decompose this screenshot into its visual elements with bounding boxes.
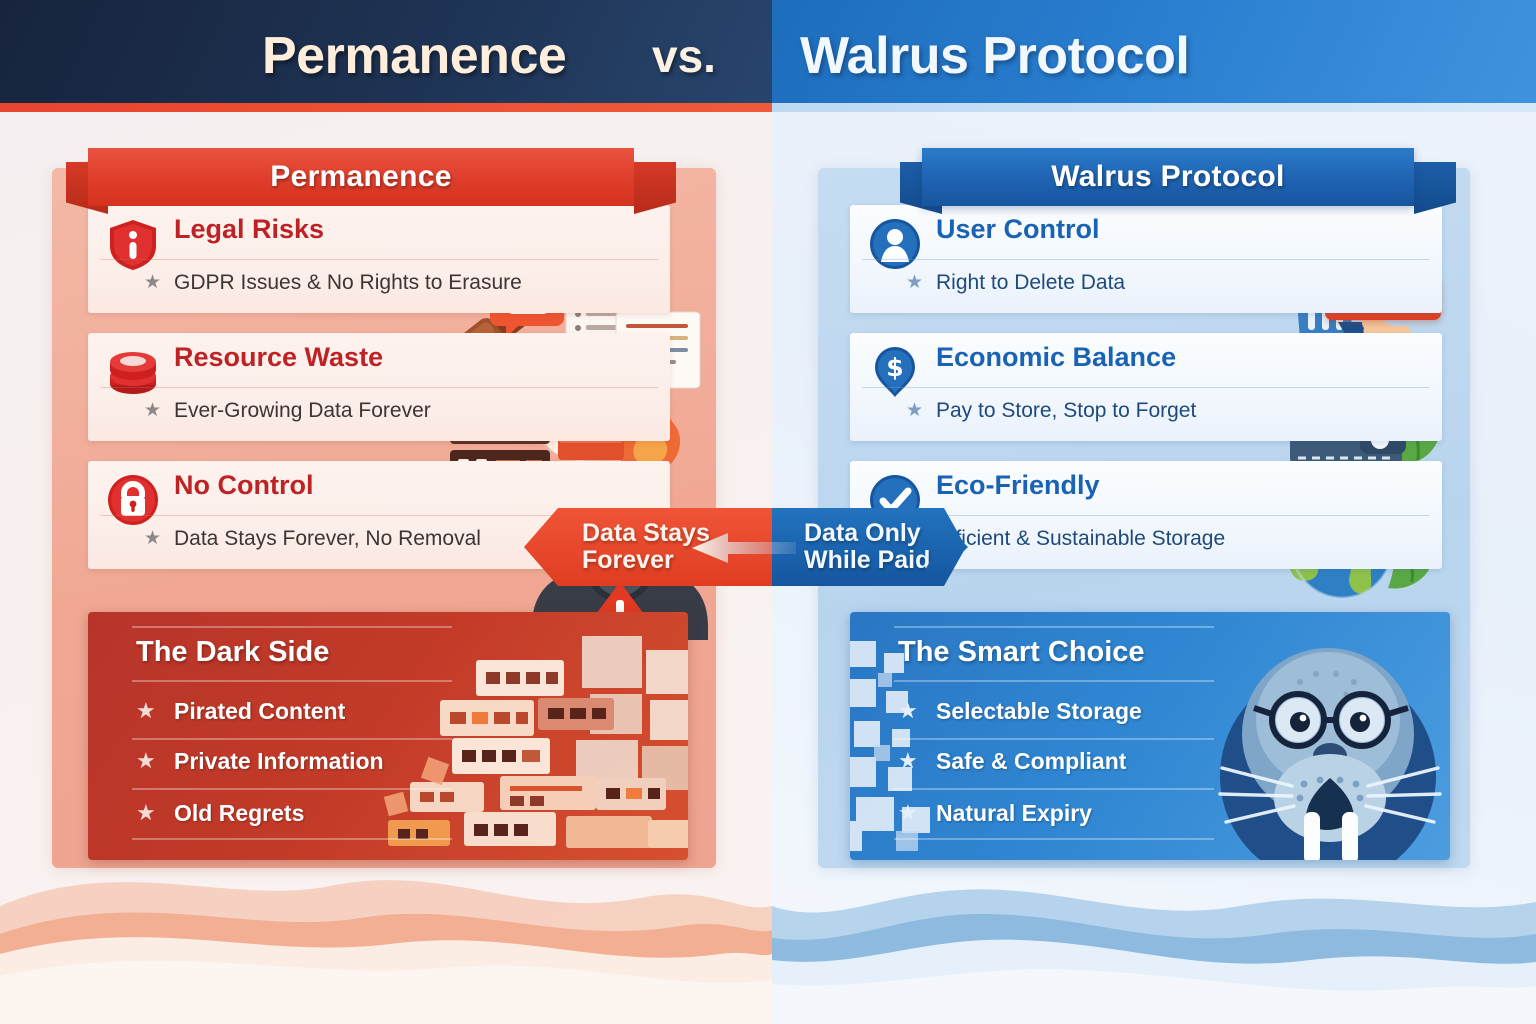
panel-rule-top [132, 626, 452, 628]
panel-item: Safe & Compliant [936, 748, 1126, 775]
dollar-pin-icon: $ [868, 345, 922, 399]
card-divider [862, 387, 1430, 388]
database-stack-icon [106, 345, 160, 399]
panel-title: The Smart Choice [898, 636, 1145, 669]
bottom-waves-decoration [0, 794, 1536, 1024]
banner-left-label: Data Stays Forever [582, 520, 710, 574]
card-economic-balance[interactable]: $ Economic Balance ★ Pay to Store, Stop … [850, 333, 1442, 441]
header-bar: Permanence vs. Walrus Protocol [0, 0, 1536, 112]
panel-rule-top [894, 626, 1214, 628]
card-legal-risks[interactable]: Legal Risks ★ GDPR Issues & No Rights to… [88, 205, 670, 313]
panel-rule-1 [894, 680, 1214, 682]
banner-right-line2: While Paid [804, 546, 930, 574]
panel-rule-2 [132, 738, 452, 740]
panel-rule-2 [894, 738, 1214, 740]
card-title: Resource Waste [174, 342, 383, 373]
card-bullet-text: Right to Delete Data [936, 271, 1125, 295]
panel-item: Pirated Content [174, 698, 345, 725]
banner-left-line1: Data Stays [582, 519, 710, 547]
shield-info-icon [106, 217, 160, 271]
card-bullet-text: Efficient & Sustainable Storage [936, 527, 1225, 551]
banner-walrus-protocol: Walrus Protocol [922, 148, 1414, 206]
panel-rule-3 [894, 788, 1214, 790]
header-title-permanence: Permanence [262, 0, 566, 112]
banner-right-label: Data Only While Paid [804, 520, 930, 574]
bullet-star-icon: ★ [906, 399, 923, 422]
panel-item: Selectable Storage [936, 698, 1142, 725]
bullet-star-icon: ★ [906, 271, 923, 294]
banner-right-line1: Data Only [804, 519, 921, 547]
card-divider [862, 259, 1430, 260]
card-title: Legal Risks [174, 214, 324, 245]
card-bullet-text: GDPR Issues & No Rights to Erasure [174, 271, 522, 295]
bullet-star-icon: ★ [144, 271, 161, 294]
bullet-star-icon: ★ [144, 399, 161, 422]
panel-item: Private Information [174, 748, 384, 775]
padlock-icon [106, 473, 160, 527]
card-user-control[interactable]: User Control ★ Right to Delete Data [850, 205, 1442, 313]
card-bullet-text: Pay to Store, Stop to Forget [936, 399, 1196, 423]
card-title: Eco-Friendly [936, 470, 1100, 501]
panel-rule-3 [132, 788, 452, 790]
banner-permanence: Permanence [88, 148, 634, 206]
panel-star-icon: ★ [898, 748, 918, 774]
card-divider [100, 259, 658, 260]
panel-star-icon: ★ [136, 698, 156, 724]
bullet-star-icon: ★ [144, 527, 161, 550]
svg-text:$: $ [886, 353, 903, 382]
header-title-walrus: Walrus Protocol [800, 0, 1189, 112]
panel-title: The Dark Side [136, 636, 329, 669]
panel-star-icon: ★ [898, 698, 918, 724]
card-divider [100, 387, 658, 388]
card-resource-waste[interactable]: Resource Waste ★ Ever-Growing Data Forev… [88, 333, 670, 441]
card-title: User Control [936, 214, 1100, 245]
panel-rule-1 [132, 680, 452, 682]
infographic-canvas: Permanence vs. Walrus Protocol [0, 0, 1536, 1024]
panel-star-icon: ★ [136, 748, 156, 774]
user-circle-icon [868, 217, 922, 271]
left-arrow-icon [692, 533, 796, 563]
card-title: No Control [174, 470, 313, 501]
card-bullet-text: Data Stays Forever, No Removal [174, 527, 481, 551]
card-title: Economic Balance [936, 342, 1176, 373]
banner-left-line2: Forever [582, 546, 674, 574]
header-title-vs: vs. [652, 0, 716, 112]
card-bullet-text: Ever-Growing Data Forever [174, 399, 431, 423]
